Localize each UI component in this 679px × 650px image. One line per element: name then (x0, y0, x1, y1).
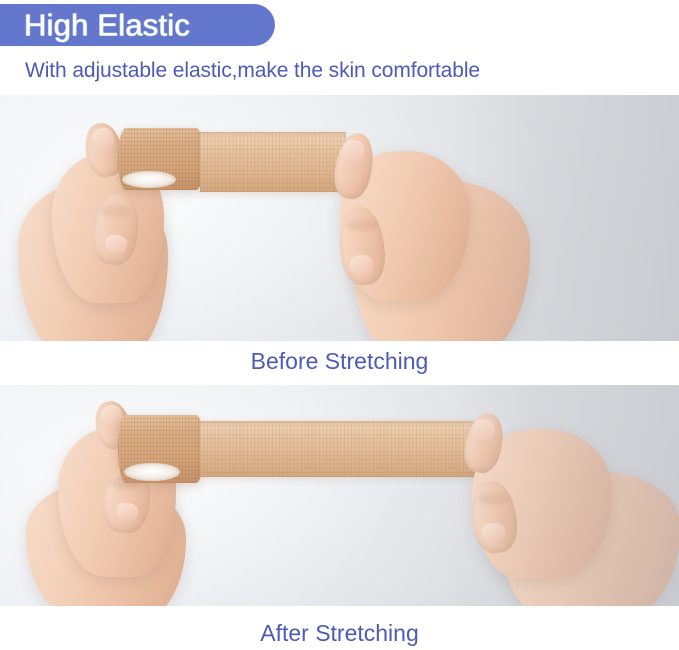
bandage-roll-core (124, 463, 180, 481)
bandage-strip-unstretched (200, 132, 346, 192)
page-title: High Elastic (24, 10, 190, 41)
left-knuckle (100, 205, 130, 217)
right-knuckle (346, 219, 378, 231)
photo-after-stretching (0, 385, 679, 606)
bandage-strip-top-edge (200, 132, 346, 137)
photo-before-stretching (0, 95, 679, 341)
right-knuckle (478, 493, 510, 505)
title-badge: High Elastic (0, 4, 275, 46)
header: High Elastic With adjustable elastic,mak… (0, 0, 679, 95)
subtitle-text: With adjustable elastic,make the skin co… (25, 57, 480, 85)
caption-after-stretching: After Stretching (0, 620, 679, 646)
bandage-roll-core (122, 171, 176, 188)
bandage-strip-stretched (200, 421, 480, 477)
caption-before-stretching: Before Stretching (0, 348, 679, 374)
bandage-strip-top-edge (200, 421, 480, 426)
